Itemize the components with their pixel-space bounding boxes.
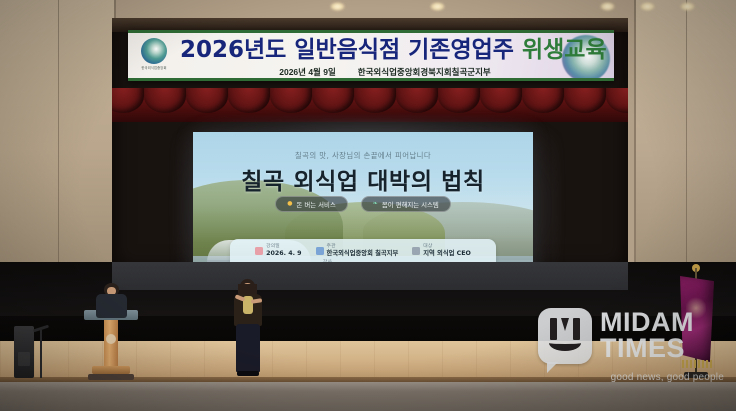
slide-title: 칠곡 외식업 대박의 법칙 bbox=[193, 162, 533, 196]
swirl-icon bbox=[141, 38, 167, 64]
ceiling-light-icon bbox=[430, 2, 445, 11]
presenter-trousers bbox=[236, 324, 260, 372]
wall-panel-right bbox=[634, 0, 736, 270]
association-logo: 한국외식업중앙회 bbox=[134, 38, 174, 79]
info-cell-organizer: 주관 한국외식업중앙회 칠곡지부 bbox=[316, 244, 399, 258]
logo-caption: 한국외식업중앙회 bbox=[135, 66, 173, 70]
slide-pill-service: ● 돈 버는 서비스 bbox=[275, 196, 348, 212]
ceiling-light-icon bbox=[600, 2, 615, 11]
banner-title-main: 2026년도 일반음식점 기존영업주 bbox=[180, 37, 522, 63]
slide-pill-service-label: 돈 버는 서비스 bbox=[296, 200, 335, 209]
microphone-stand bbox=[40, 330, 42, 378]
seminar-stage-photo: 한국외식업중앙회 2026년도 일반음식점 기존영업주 위생교육 2026년 4… bbox=[0, 0, 736, 411]
woman-presenter bbox=[228, 279, 268, 379]
watermark: MIDAM TIMES good news, good people bbox=[538, 308, 728, 400]
slide-pill-row: ● 돈 버는 서비스 ❧ 몸이 편해지는 시스템 bbox=[193, 196, 533, 212]
ceiling-light-icon bbox=[680, 2, 695, 11]
wall-seam bbox=[58, 0, 59, 270]
info-value-audience: 지역 외식업 CEO bbox=[423, 250, 471, 258]
info-value-date: 2026. 4. 9 bbox=[266, 250, 301, 258]
info-cell-audience: 대상 지역 외식업 CEO bbox=[412, 244, 471, 258]
man-at-podium bbox=[88, 283, 134, 323]
banner-title: 2026년도 일반음식점 기존영업주 위생교육 bbox=[180, 37, 590, 63]
info-value-organizer: 한국외식업중앙회 칠곡지부 bbox=[327, 250, 399, 258]
info-cell-date: 강의일 2026. 4. 9 bbox=[255, 244, 301, 258]
midam-logo-icon bbox=[538, 308, 592, 364]
banner-subline: 2026년 4월 9일한국외식업중앙회경북지회칠곡군지부 bbox=[180, 66, 590, 78]
ceiling-light-icon bbox=[640, 2, 655, 11]
event-banner: 한국외식업중앙회 2026년도 일반음식점 기존영업주 위생교육 2026년 4… bbox=[128, 30, 614, 81]
banner-title-accent: 위생교육 bbox=[522, 37, 607, 63]
curtain-valance bbox=[112, 88, 628, 122]
coin-icon: ● bbox=[287, 201, 292, 207]
leaf-icon: ❧ bbox=[373, 201, 378, 207]
slide-subtitle: 칠곡의 맛, 사장님의 손끝에서 피어납니다 bbox=[193, 150, 533, 161]
loudspeaker-cabinet bbox=[14, 326, 34, 378]
letter-m-glyph bbox=[548, 318, 582, 350]
man-torso bbox=[96, 294, 127, 318]
slide-pill-system-label: 몸이 편해지는 시스템 bbox=[382, 200, 439, 209]
watermark-brand-line2: TIMES bbox=[600, 336, 694, 362]
lectern-column bbox=[104, 320, 118, 366]
building-icon bbox=[316, 247, 324, 255]
stage-back-wall bbox=[112, 262, 628, 290]
ceiling-light-icon bbox=[330, 2, 345, 11]
banner-date: 2026년 4월 9일 bbox=[279, 67, 336, 77]
calendar-icon bbox=[255, 247, 263, 255]
banner-organization: 한국외식업중앙회경북지회칠곡군지부 bbox=[358, 67, 491, 77]
people-icon bbox=[412, 247, 420, 255]
wall-seam bbox=[686, 0, 687, 270]
slide-info-row-primary: 강의일 2026. 4. 9 주관 한국외식업중앙회 칠곡지부 대상 지역 bbox=[236, 244, 490, 258]
presenter-shoes bbox=[237, 371, 259, 376]
watermark-brand: MIDAM TIMES bbox=[600, 310, 694, 362]
slide-pill-system: ❧ 몸이 편해지는 시스템 bbox=[361, 196, 451, 212]
lectern-foot bbox=[88, 374, 134, 380]
watermark-tagline: good news, good people bbox=[538, 372, 728, 383]
lectern-base bbox=[92, 366, 130, 374]
